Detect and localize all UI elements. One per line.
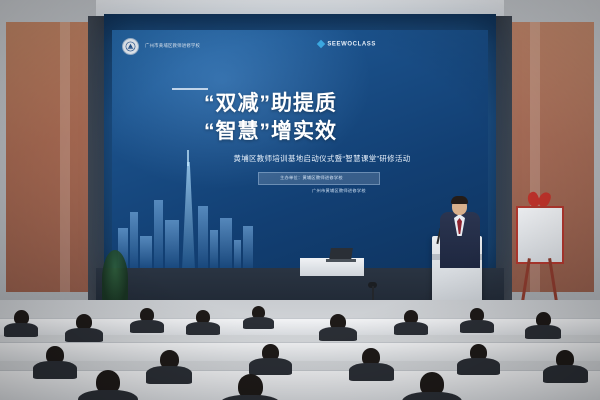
audience-shoulders bbox=[525, 325, 561, 339]
audience-shoulders bbox=[349, 363, 394, 381]
audience-shoulders bbox=[33, 361, 77, 379]
easel-sign bbox=[516, 206, 564, 264]
institution-name-text: 广州市黄埔区教师进修学校 bbox=[145, 44, 200, 49]
screen-institution-logo: 广州市黄埔区教师进修学校 bbox=[122, 38, 200, 55]
audience-shoulders bbox=[78, 390, 138, 400]
audience-area bbox=[0, 300, 600, 400]
audience-shoulders bbox=[460, 320, 494, 333]
slide-subtitle: 黄埔区教师培训基地启动仪式暨“智慧课堂”研修活动 bbox=[172, 153, 472, 164]
audience-shoulders bbox=[130, 320, 164, 333]
projection-screen: 广州市黄埔区教师进修学校 SEEWOCLASS “双减”助提质 “智慧”增实效 … bbox=[112, 30, 488, 270]
laptop-base bbox=[326, 259, 356, 262]
audience-shoulders bbox=[394, 322, 428, 335]
audience-shoulders bbox=[186, 322, 220, 335]
title-accent-rule bbox=[172, 88, 208, 90]
slide-info-line-1: 主办单位：黄埔区教师进修学校 bbox=[280, 175, 343, 181]
audience-shoulders bbox=[457, 358, 500, 375]
audience-shoulders bbox=[319, 327, 357, 341]
canton-tower-icon bbox=[182, 162, 195, 270]
speaker-hair bbox=[451, 196, 468, 204]
conference-photo: 广州市黄埔区教师进修学校 SEEWOCLASS “双减”助提质 “智慧”增实效 … bbox=[0, 0, 600, 400]
audience-shoulders bbox=[65, 328, 103, 342]
left-wall-wood-panel bbox=[6, 22, 88, 292]
audience-shoulders bbox=[243, 317, 274, 329]
audience-shoulders bbox=[146, 366, 192, 384]
brand-text: SEEWOCLASS bbox=[327, 42, 376, 48]
audience-shoulders bbox=[249, 358, 292, 375]
slide-title-line1: “双减”助提质 bbox=[204, 92, 337, 115]
seat-row bbox=[0, 342, 600, 361]
audience-shoulders bbox=[543, 365, 588, 383]
audience-shoulders bbox=[402, 392, 462, 400]
left-wall-strip bbox=[60, 22, 70, 292]
brand-logo: SEEWOCLASS bbox=[318, 41, 376, 48]
slide-title-line2: “智慧”增实效 bbox=[204, 118, 444, 146]
audience-shoulders bbox=[4, 323, 38, 337]
slide-title: “双减”助提质 “智慧”增实效 bbox=[204, 90, 444, 147]
slide-info-line-2: 广州市黄埔区教师进修学校 bbox=[312, 188, 366, 194]
diamond-mark-icon bbox=[317, 40, 325, 48]
institution-seal-icon bbox=[122, 38, 139, 55]
